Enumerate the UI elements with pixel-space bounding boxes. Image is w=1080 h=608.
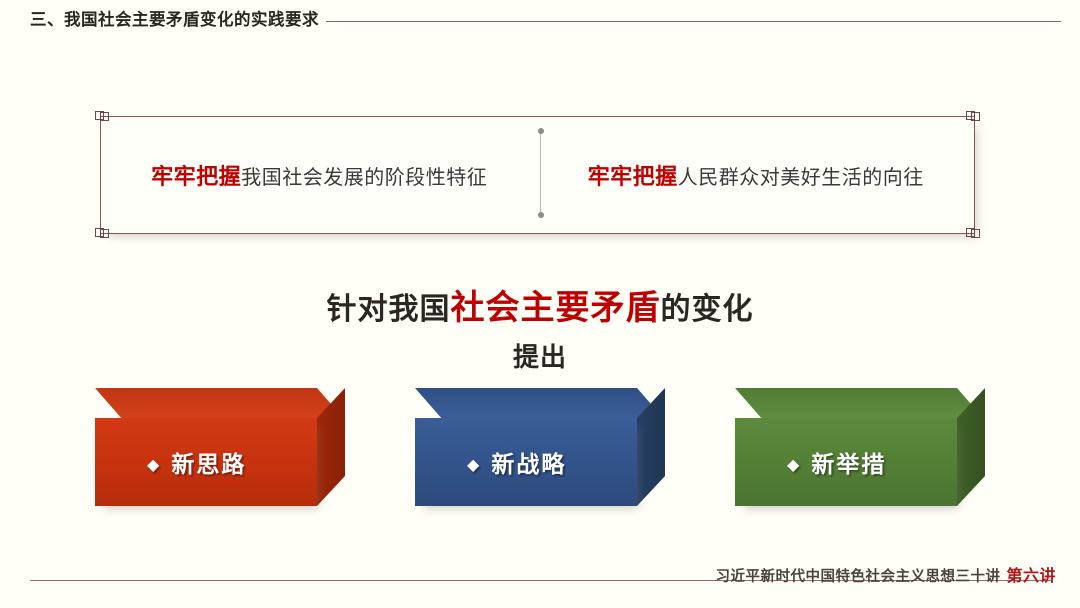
diamond-bullet-icon: ◆ xyxy=(467,455,481,474)
headline-block: 针对我国社会主要矛盾的变化 提出 xyxy=(0,286,1080,380)
box-label: 新战略 xyxy=(491,452,566,478)
box-new-thinking[interactable]: ◆新思路 xyxy=(95,388,345,506)
footer-lecture-number: 第六讲 xyxy=(1006,566,1056,585)
box-top-face xyxy=(95,388,345,420)
footer-series-title: 习近平新时代中国特色社会主义思想三十讲 xyxy=(715,569,1000,585)
box-label-wrap: ◆新战略 xyxy=(467,445,566,479)
box-label-wrap: ◆新思路 xyxy=(147,445,246,479)
box-label-wrap: ◆新举措 xyxy=(787,445,886,479)
slide-canvas: 三、我国社会主要矛盾变化的实践要求 牢牢把握我国社会发展的阶段性特征 牢牢把握人… xyxy=(0,0,1080,608)
box-front-face: ◆新战略 xyxy=(415,418,637,506)
headline-line-2: 提出 xyxy=(0,336,1080,380)
quote-left-text: 我国社会发展的阶段性特征 xyxy=(241,161,487,190)
box-new-strategy[interactable]: ◆新战略 xyxy=(415,388,665,506)
headline-line-1: 针对我国社会主要矛盾的变化 xyxy=(0,286,1080,332)
box-row: ◆新思路 ◆新战略 ◆新举措 xyxy=(0,388,1080,518)
box-new-measure[interactable]: ◆新举措 xyxy=(735,388,985,506)
footer-text: 习近平新时代中国特色社会主义思想三十讲第六讲 xyxy=(715,562,1056,586)
diamond-bullet-icon: ◆ xyxy=(787,455,801,474)
header-divider-line xyxy=(326,21,1061,22)
diamond-bullet-icon: ◆ xyxy=(147,455,161,474)
quote-left: 牢牢把握我国社会发展的阶段性特征 xyxy=(101,159,538,191)
quote-right: 牢牢把握人民群众对美好生活的向往 xyxy=(538,159,975,191)
slide-header: 三、我国社会主要矛盾变化的实践要求 xyxy=(0,0,1080,44)
box-top-face xyxy=(415,388,665,420)
box-label: 新思路 xyxy=(171,452,246,478)
headline-emphasis: 社会主要矛盾 xyxy=(451,288,661,328)
headline-suffix: 的变化 xyxy=(661,292,754,327)
section-title: 三、我国社会主要矛盾变化的实践要求 xyxy=(30,8,319,32)
box-front-face: ◆新举措 xyxy=(735,418,957,506)
quote-frame[interactable]: 牢牢把握我国社会发展的阶段性特征 牢牢把握人民群众对美好生活的向往 xyxy=(100,116,975,234)
box-label: 新举措 xyxy=(811,452,886,478)
quote-left-emphasis: 牢牢把握 xyxy=(151,159,241,191)
quote-right-text: 人民群众对美好生活的向往 xyxy=(678,161,924,190)
box-front-face: ◆新思路 xyxy=(95,418,317,506)
quote-right-emphasis: 牢牢把握 xyxy=(588,159,678,191)
box-top-face xyxy=(735,388,985,420)
vertical-divider xyxy=(540,131,541,215)
headline-prefix: 针对我国 xyxy=(327,292,451,327)
